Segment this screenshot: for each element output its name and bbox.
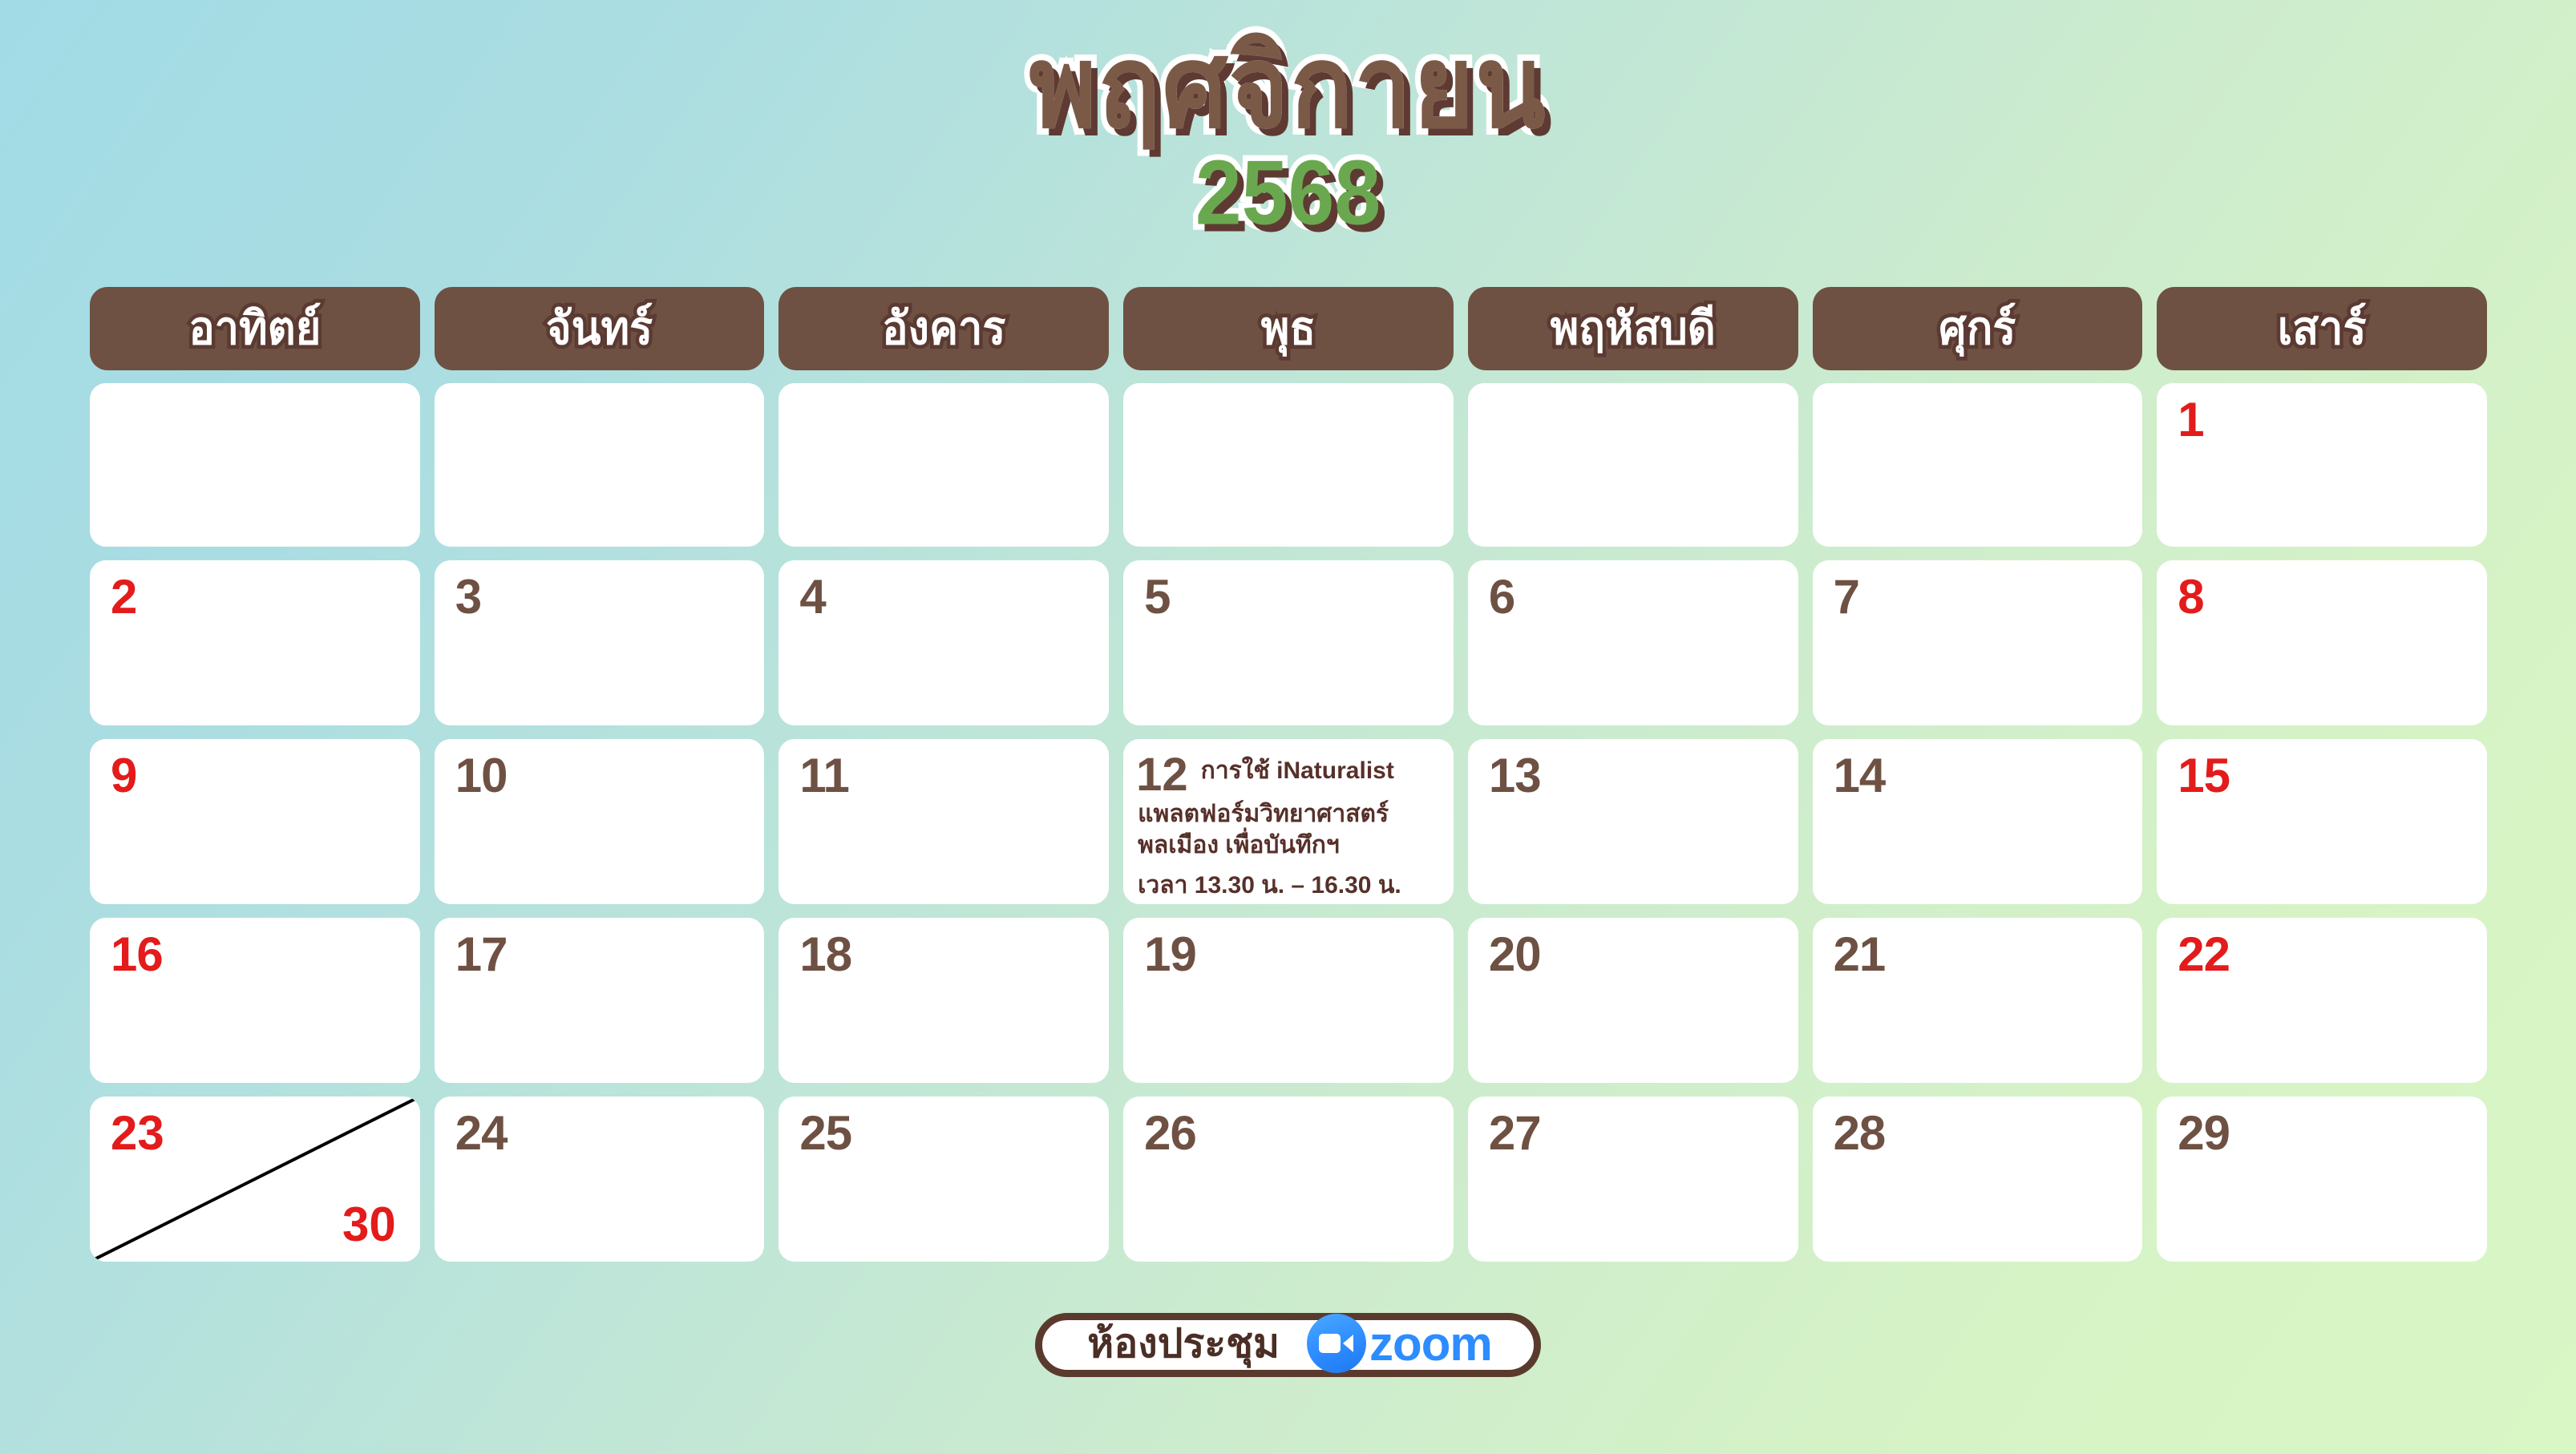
event-header: 12 การใช้ iNaturalist (1136, 750, 1446, 798)
day-number: 5 (1144, 573, 1170, 621)
weekday-label: พุธ (1261, 305, 1316, 351)
week-row: 9 10 11 12 การใช้ iNaturalist แพลตฟอร์มว… (90, 739, 2487, 904)
day-number: 6 (1489, 573, 1514, 621)
day-number: 21 (1834, 931, 1886, 979)
day-cell[interactable] (90, 383, 420, 547)
day-number: 19 (1144, 931, 1196, 979)
day-cell[interactable] (1123, 383, 1454, 547)
day-number: 24 (455, 1109, 508, 1157)
day-cell-25[interactable]: 25 (778, 1097, 1109, 1262)
day-cell-28[interactable]: 28 (1813, 1097, 2143, 1262)
day-cell-8[interactable]: 8 (2157, 560, 2487, 725)
weekday-label: ศุกร์ (1939, 305, 2016, 351)
day-cell-26[interactable]: 26 (1123, 1097, 1454, 1262)
day-number: 8 (2178, 573, 2203, 621)
day-cell-10[interactable]: 10 (435, 739, 765, 904)
day-cell[interactable] (435, 383, 765, 547)
weekday-label: เสาร์ (2278, 305, 2367, 351)
day-number: 13 (1489, 752, 1541, 800)
event-title-line-1: การใช้ iNaturalist (1201, 757, 1394, 786)
day-number: 11 (799, 752, 848, 800)
day-number: 2 (111, 573, 136, 621)
day-cell-21[interactable]: 21 (1813, 918, 2143, 1083)
day-number: 7 (1834, 573, 1859, 621)
day-cell-15[interactable]: 15 (2157, 739, 2487, 904)
day-cell-4[interactable]: 4 (778, 560, 1109, 725)
weekday-header-saturday: เสาร์ (2157, 287, 2487, 370)
weekday-label: จันทร์ (546, 305, 653, 351)
day-cell-19[interactable]: 19 (1123, 918, 1454, 1083)
week-row: 1 (90, 383, 2487, 547)
weekday-header-tuesday: อังคาร (778, 287, 1109, 370)
day-number: 23 (111, 1109, 164, 1157)
weekday-header-sunday: อาทิตย์ (90, 287, 420, 370)
day-cell-20[interactable]: 20 (1468, 918, 1798, 1083)
day-cell-14[interactable]: 14 (1813, 739, 2143, 904)
camera-glyph-icon (1318, 1331, 1355, 1355)
day-cell-16[interactable]: 16 (90, 918, 420, 1083)
zoom-wordmark: zoom (1369, 1320, 1492, 1368)
meeting-room-badge[interactable]: ห้องประชุม zoom (1035, 1313, 1540, 1377)
day-cell-23-30[interactable]: 23 30 (90, 1097, 420, 1262)
event-title-line-2: แพลตฟอร์มวิทยาศาสตร์ (1138, 800, 1446, 830)
day-cell-13[interactable]: 13 (1468, 739, 1798, 904)
day-cell[interactable] (1468, 383, 1798, 547)
calendar-page: พฤศจิกายน 2568 อาทิตย์ จันทร์ อังคาร พุธ… (0, 0, 2576, 1454)
calendar-title-block: พฤศจิกายน 2568 (0, 30, 2576, 231)
day-number: 12 (1136, 752, 1188, 798)
day-cell[interactable] (778, 383, 1109, 547)
day-cell-18[interactable]: 18 (778, 918, 1109, 1083)
week-row: 2 3 4 5 6 7 8 (90, 560, 2487, 725)
day-cell-17[interactable]: 17 (435, 918, 765, 1083)
day-number: 9 (111, 752, 136, 800)
week-row: 23 30 24 25 26 27 28 29 (90, 1097, 2487, 1262)
day-number: 14 (1834, 752, 1886, 800)
day-number: 10 (455, 752, 508, 800)
page-title: พฤศจิกายน (0, 30, 2576, 145)
footer: ห้องประชุม zoom (0, 1313, 2576, 1377)
day-cell-2[interactable]: 2 (90, 560, 420, 725)
event-time: เวลา 13.30 น. – 16.30 น. (1138, 871, 1446, 900)
day-cell-7[interactable]: 7 (1813, 560, 2143, 725)
day-cell-29[interactable]: 29 (2157, 1097, 2487, 1262)
calendar-year: 2568 (0, 147, 2576, 239)
day-number-secondary: 30 (342, 1201, 396, 1249)
day-number: 16 (111, 931, 163, 979)
calendar-grid: อาทิตย์ จันทร์ อังคาร พุธ พฤหัสบดี ศุกร์… (90, 287, 2487, 1275)
day-number: 28 (1834, 1109, 1886, 1157)
day-number: 25 (799, 1109, 851, 1157)
day-cell-27[interactable]: 27 (1468, 1097, 1798, 1262)
day-cell-22[interactable]: 22 (2157, 918, 2487, 1083)
day-number: 29 (2178, 1109, 2230, 1157)
day-number: 3 (455, 573, 481, 621)
day-number: 20 (1489, 931, 1541, 979)
day-number: 22 (2178, 931, 2230, 979)
event-entry[interactable]: 12 การใช้ iNaturalist แพลตฟอร์มวิทยาศาสต… (1136, 750, 1446, 900)
weekday-label: อาทิตย์ (188, 305, 321, 351)
day-cell-3[interactable]: 3 (435, 560, 765, 725)
weekday-header-monday: จันทร์ (435, 287, 765, 370)
event-title-line-3: พลเมือง เพื่อบันทึกฯ (1138, 831, 1446, 861)
day-number: 17 (455, 931, 508, 979)
day-number: 26 (1144, 1109, 1196, 1157)
day-cell-12[interactable]: 12 การใช้ iNaturalist แพลตฟอร์มวิทยาศาสต… (1123, 739, 1454, 904)
day-cell-6[interactable]: 6 (1468, 560, 1798, 725)
day-cell-5[interactable]: 5 (1123, 560, 1454, 725)
weekday-label: พฤหัสบดี (1551, 305, 1716, 351)
day-number: 18 (799, 931, 851, 979)
weekday-header-thursday: พฤหัสบดี (1468, 287, 1798, 370)
day-cell[interactable] (1813, 383, 2143, 547)
day-cell-11[interactable]: 11 (778, 739, 1109, 904)
day-number: 4 (799, 573, 825, 621)
zoom-logo: zoom (1307, 1314, 1492, 1373)
weekday-header-friday: ศุกร์ (1813, 287, 2143, 370)
week-row: 16 17 18 19 20 21 22 (90, 918, 2487, 1083)
meeting-room-label: ห้องประชุม (1087, 1323, 1280, 1363)
day-cell-9[interactable]: 9 (90, 739, 420, 904)
weekday-header-row: อาทิตย์ จันทร์ อังคาร พุธ พฤหัสบดี ศุกร์… (90, 287, 2487, 370)
weekday-header-wednesday: พุธ (1123, 287, 1454, 370)
weekday-label: อังคาร (882, 305, 1005, 351)
day-cell-1[interactable]: 1 (2157, 383, 2487, 547)
day-number: 1 (2178, 396, 2203, 444)
day-number: 15 (2178, 752, 2230, 800)
day-number: 27 (1489, 1109, 1541, 1157)
video-camera-icon (1307, 1314, 1366, 1373)
day-cell-24[interactable]: 24 (435, 1097, 765, 1262)
